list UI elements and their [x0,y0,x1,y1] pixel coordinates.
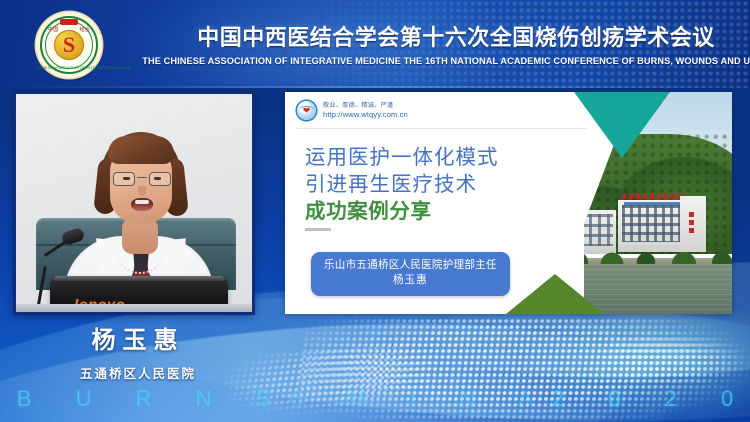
speaker-glasses [112,172,172,187]
desk-surface [16,304,252,312]
hospital-url[interactable]: http://www.wtqyy.com.cn [323,110,408,120]
seal-left-text: 中国 [48,26,58,33]
presentation-slide[interactable]: ❤ 敬业、厚德、精诚、严谨 http://www.wtqyy.com.cn 运用… [285,92,732,314]
wordmark-year: 2 0 2 0 [552,386,750,412]
slide-title-line-2: 引进再生医疗技术 [305,171,565,198]
hospital-heart-logo-icon: ❤ [297,101,316,120]
seal-arc-text: CHINESE ASSOCIATION OF INTEGRATIVE MEDIC… [36,66,102,70]
slide-header: ❤ 敬业、厚德、精诚、严谨 http://www.wtqyy.com.cn [297,101,408,120]
presenter-badge: 乐山市五通桥区人民医院护理部主任 杨玉惠 [311,252,510,296]
seal-monogram: S [63,34,75,56]
presenter-role: 乐山市五通桥区人民医院护理部主任 [324,258,497,273]
hospital-motto: 敬业、厚德、精诚、严谨 [323,102,408,110]
speaker-name: 杨玉惠 [18,320,258,355]
speaker-bangs [108,136,174,164]
association-seal-logo: 中国 结合 S CHINESE ASSOCIATION OF INTEGRATI… [36,12,102,78]
conference-header-banner: 中国 结合 S CHINESE ASSOCIATION OF INTEGRATI… [0,0,750,88]
speaker-nose [138,186,146,196]
speaker-eye-left [123,177,130,180]
glasses-bridge [137,177,147,178]
photo-rooftop-sign [622,194,686,199]
seal-top-mark [60,19,78,25]
wordmark-china: C H I N A [289,386,552,412]
speaker-identity-block: 杨玉惠 五通桥区人民医院 [18,320,258,382]
seal-right-text: 结合 [80,26,90,33]
conference-title-cn: 中国中西医结合学会第十六次全国烧伤创疡学术会议 [178,20,734,52]
photo-river [574,264,732,314]
slide-header-rule [297,128,587,129]
laptop-lid-edge [54,276,224,281]
speaker-eye-right [154,177,161,180]
slide-title-line-1: 运用医护一体化模式 [305,144,565,171]
speaker-organization: 五通桥区人民医院 [18,363,258,382]
world-map-dots-right [600,330,750,390]
speaker-video-feed[interactable]: lenovo [16,94,252,312]
photo-vertical-sign [689,212,694,236]
slide-title-accent: 成功案例分享 [305,198,565,225]
broadcast-stage: 中国 结合 S CHINESE ASSOCIATION OF INTEGRATI… [0,0,750,422]
presenter-name: 杨玉惠 [324,273,497,288]
header-divider [0,86,750,88]
heart-icon: ❤ [303,106,311,115]
conference-title-en: THE CHINESE ASSOCIATION OF INTEGRATIVE M… [142,56,731,67]
wordmark-burns: B U R N S [17,386,289,412]
speaker-mouth [131,198,153,211]
speaker-video-panel[interactable]: lenovo [14,92,254,314]
slide-title-block: 运用医护一体化模式 引进再生医疗技术 成功案例分享 [305,144,565,231]
event-wordmark: B U R N S C H I N A 2 0 2 0 [0,386,750,412]
slide-title-underline [305,228,331,231]
